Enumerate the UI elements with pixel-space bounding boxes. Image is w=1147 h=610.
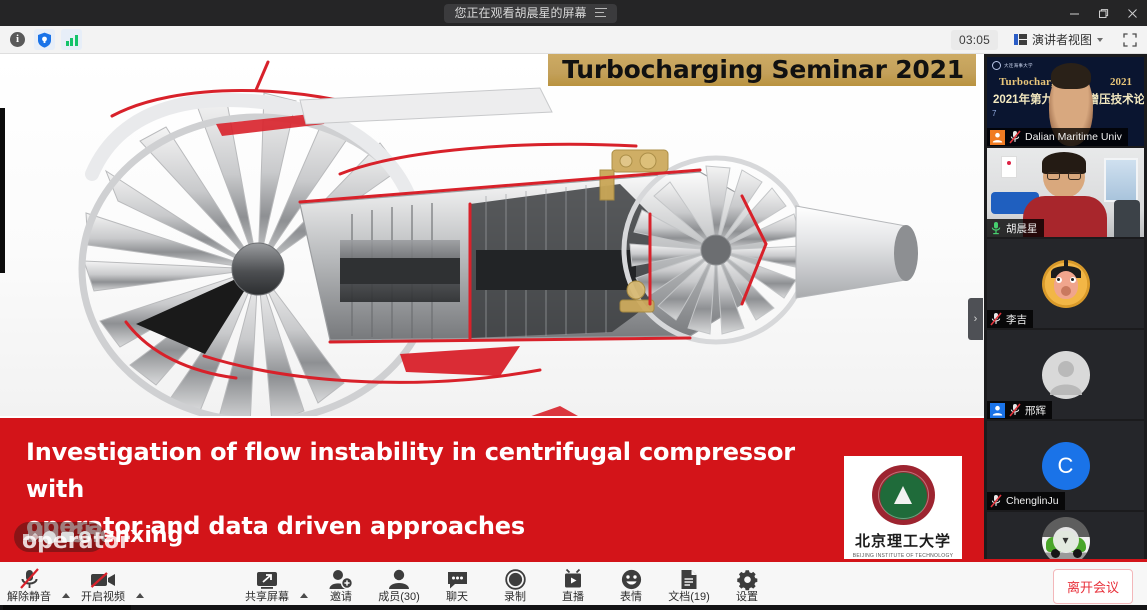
gear-icon bbox=[737, 568, 758, 590]
cartoon-avatar-icon bbox=[1042, 260, 1090, 308]
share-screen-button[interactable]: 共享屏幕 bbox=[238, 563, 296, 609]
participant-name: 李吉 bbox=[1006, 312, 1027, 327]
minimize-icon[interactable] bbox=[1060, 0, 1089, 26]
institution-logo-card: 北京理工大学 BEIJING INSTITUTE OF TECHNOLOGY bbox=[844, 456, 962, 559]
host-icon bbox=[990, 130, 1005, 145]
chevron-up-icon[interactable] bbox=[62, 593, 70, 598]
shared-screen-stage[interactable]: Turbocharging Seminar 2021 Investigation… bbox=[0, 54, 984, 559]
record-label: 录制 bbox=[504, 591, 526, 604]
mic-muted-icon bbox=[19, 568, 40, 590]
zoom-meeting-window: 您正在观看胡晨星的屏幕 i bbox=[0, 0, 1147, 610]
chat-label: 聊天 bbox=[446, 591, 468, 604]
speaker-view-icon bbox=[1014, 34, 1027, 45]
close-icon[interactable] bbox=[1118, 0, 1147, 26]
left-edge-strip bbox=[0, 108, 5, 273]
live-stream-label: 直播 bbox=[562, 591, 584, 604]
view-mode-selector[interactable]: 演讲者视图 bbox=[1008, 28, 1109, 51]
viewing-screen-pill: 您正在观看胡晨星的屏幕 bbox=[444, 4, 617, 23]
signal-bars-icon[interactable] bbox=[61, 29, 82, 50]
invite-person-icon bbox=[329, 568, 353, 590]
default-person-avatar-icon bbox=[1042, 351, 1090, 399]
settings-label: 设置 bbox=[736, 591, 758, 604]
chevron-down-icon[interactable]: ▾ bbox=[1053, 527, 1079, 553]
smiley-icon bbox=[621, 568, 642, 590]
screenshare-toolbar-right: 03:05 演讲者视图 bbox=[951, 28, 1147, 51]
chat-bubble-icon bbox=[446, 568, 469, 590]
shield-icon[interactable] bbox=[34, 29, 55, 50]
cohost-icon bbox=[990, 403, 1005, 418]
meeting-timer: 03:05 bbox=[951, 30, 998, 50]
chevron-right-icon[interactable]: › bbox=[968, 298, 983, 340]
slide-title-band: Investigation of flow instability in cen… bbox=[0, 416, 984, 559]
tile-slide-logo: 大连海事大学 bbox=[992, 61, 1033, 70]
mic-on-icon bbox=[990, 221, 1002, 235]
turbofan-engine-cutaway-image bbox=[0, 54, 984, 416]
record-button[interactable]: 录制 bbox=[486, 563, 544, 609]
participant-hair bbox=[1042, 152, 1086, 174]
video-options-caret[interactable] bbox=[132, 563, 148, 609]
participant-tile[interactable]: 李吉 bbox=[987, 239, 1144, 328]
taskbar-sliver bbox=[3, 605, 131, 610]
hamburger-icon[interactable] bbox=[595, 8, 607, 17]
participant-nameplate: 邢辉 bbox=[987, 401, 1052, 419]
background-artwork bbox=[1001, 156, 1017, 178]
leave-meeting-button[interactable]: 离开会议 bbox=[1053, 569, 1133, 604]
participant-name: 邢辉 bbox=[1025, 403, 1046, 418]
participant-tile[interactable]: 大连海事大学 Turbocharging 2021 2021年第九届国际增压技术… bbox=[987, 57, 1144, 146]
documents-button[interactable]: 文档(19) bbox=[660, 563, 718, 609]
invite-label: 邀请 bbox=[330, 591, 352, 604]
participant-nameplate: 李吉 bbox=[987, 310, 1033, 328]
engine-illustration-area: Turbocharging Seminar 2021 bbox=[0, 54, 984, 416]
participant-hair bbox=[1051, 63, 1091, 89]
window-titlebar: 您正在观看胡晨星的屏幕 bbox=[0, 0, 1147, 26]
university-seal-icon bbox=[992, 61, 1001, 70]
participant-filmstrip[interactable]: 大连海事大学 Turbocharging 2021 2021年第九届国际增压技术… bbox=[984, 54, 1147, 559]
participant-name: 胡晨星 bbox=[1006, 221, 1038, 236]
slide-title-line-1: Investigation of flow instability in cen… bbox=[26, 434, 816, 508]
unmute-button[interactable]: 解除静音 bbox=[0, 563, 58, 609]
share-options-caret[interactable] bbox=[296, 563, 312, 609]
live-stream-button[interactable]: 直播 bbox=[544, 563, 602, 609]
live-stream-icon bbox=[562, 568, 584, 590]
initial-avatar: C bbox=[1042, 442, 1090, 490]
share-screen-icon bbox=[255, 568, 279, 590]
info-glyph: i bbox=[10, 32, 25, 47]
participant-name: ChenglinJu bbox=[1006, 495, 1059, 507]
participant-tile[interactable]: 胡晨星 bbox=[987, 148, 1144, 237]
seminar-banner: Turbocharging Seminar 2021 bbox=[548, 54, 976, 86]
mic-muted-icon bbox=[1009, 403, 1021, 417]
reactions-button[interactable]: 表情 bbox=[602, 563, 660, 609]
tile-slide-year: 2021 bbox=[1110, 76, 1132, 88]
participants-button[interactable]: 成员(30) bbox=[370, 563, 428, 609]
participant-tile[interactable]: 邢辉 bbox=[987, 330, 1144, 419]
signal-bars-glyph bbox=[66, 34, 78, 46]
unmute-label: 解除静音 bbox=[7, 591, 51, 604]
institution-name: 北京理工大学 bbox=[855, 530, 951, 551]
view-mode-label: 演讲者视图 bbox=[1032, 31, 1092, 48]
participant-nameplate: ChenglinJu bbox=[987, 492, 1065, 510]
mic-muted-icon bbox=[990, 494, 1002, 508]
chat-button[interactable]: 聊天 bbox=[428, 563, 486, 609]
mic-muted-icon bbox=[990, 312, 1002, 326]
settings-button[interactable]: 设置 bbox=[718, 563, 776, 609]
participant-nameplate: Dalian Maritime Univ bbox=[987, 128, 1128, 146]
screen-bottom-edge bbox=[0, 605, 1147, 610]
chevron-up-icon[interactable] bbox=[136, 593, 144, 598]
meeting-controls-toolbar: 解除静音 开启视频 bbox=[0, 562, 1147, 610]
background-window bbox=[1104, 158, 1138, 202]
mic-muted-icon bbox=[1009, 130, 1021, 144]
window-controls bbox=[1060, 0, 1147, 26]
record-circle-icon bbox=[505, 568, 526, 590]
info-icon[interactable]: i bbox=[7, 29, 28, 50]
chevron-up-icon[interactable] bbox=[300, 593, 308, 598]
fullscreen-icon[interactable] bbox=[1119, 30, 1141, 50]
share-screen-label: 共享屏幕 bbox=[245, 591, 289, 604]
participant-nameplate: 胡晨星 bbox=[987, 219, 1044, 237]
participants-icon bbox=[387, 568, 411, 590]
bit-seal-icon bbox=[872, 465, 935, 525]
participants-label: 成员(30) bbox=[378, 591, 420, 604]
start-video-button[interactable]: 开启视频 bbox=[74, 563, 132, 609]
viewing-screen-label: 您正在观看胡晨星的屏幕 bbox=[455, 6, 587, 20]
bit-bird-glyph bbox=[894, 486, 912, 504]
participant-name: Dalian Maritime Univ bbox=[1025, 131, 1122, 143]
background-chair bbox=[1114, 200, 1140, 237]
participant-tile[interactable]: C ChenglinJu bbox=[987, 421, 1144, 510]
document-icon bbox=[680, 568, 698, 590]
invite-button[interactable]: 邀请 bbox=[312, 563, 370, 609]
chevron-down-icon[interactable] bbox=[1097, 38, 1103, 42]
documents-label: 文档(19) bbox=[668, 591, 710, 604]
video-off-icon bbox=[90, 568, 116, 590]
presentation-slide: Turbocharging Seminar 2021 Investigation… bbox=[0, 54, 984, 559]
tile-slide-logo-text: 大连海事大学 bbox=[1004, 63, 1033, 69]
start-video-label: 开启视频 bbox=[81, 591, 125, 604]
restore-icon[interactable] bbox=[1089, 0, 1118, 26]
screenshare-status-toolbar: i 03:05 演讲者视图 bbox=[0, 26, 1147, 54]
reactions-label: 表情 bbox=[620, 591, 642, 604]
audio-options-caret[interactable] bbox=[58, 563, 74, 609]
glasses-icon bbox=[1047, 172, 1081, 180]
tile-slide-digit: 7 bbox=[992, 109, 996, 118]
overlay-watermark-text: operator bbox=[22, 529, 130, 554]
